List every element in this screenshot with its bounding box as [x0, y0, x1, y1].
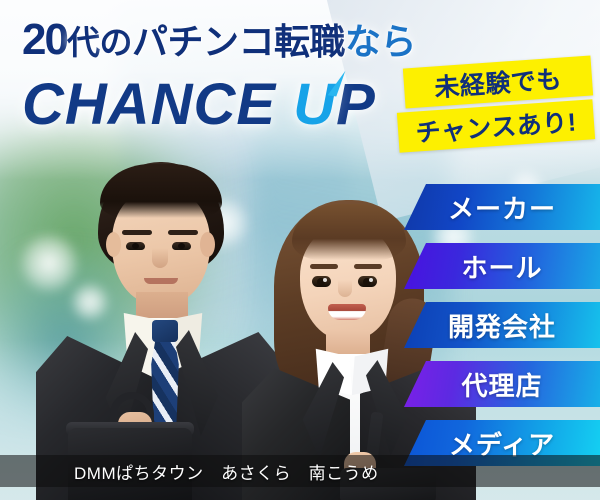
- caption-bar: DMMぱちタウン あさくら 南こうめ: [0, 455, 600, 487]
- recruitment-banner: 20代のパチンコ転職なら CHANCE UP 未経験でも チャンスあり! メーカ…: [0, 0, 600, 500]
- category-button-hall[interactable]: ホール: [404, 243, 600, 289]
- category-label-hall: ホール: [461, 248, 542, 285]
- category-label-agency: 代理店: [461, 366, 542, 403]
- caption-text: DMMぱちタウン あさくら 南こうめ: [0, 459, 379, 484]
- category-label-maker: メーカー: [448, 189, 556, 226]
- category-button-development[interactable]: 開発会社: [404, 302, 600, 348]
- category-button-agency[interactable]: 代理店: [404, 361, 600, 407]
- category-button-maker[interactable]: メーカー: [404, 184, 600, 230]
- category-label-development: 開発会社: [448, 307, 556, 344]
- category-button-list: メーカー ホール 開発会社 代理店 メディア: [0, 0, 600, 500]
